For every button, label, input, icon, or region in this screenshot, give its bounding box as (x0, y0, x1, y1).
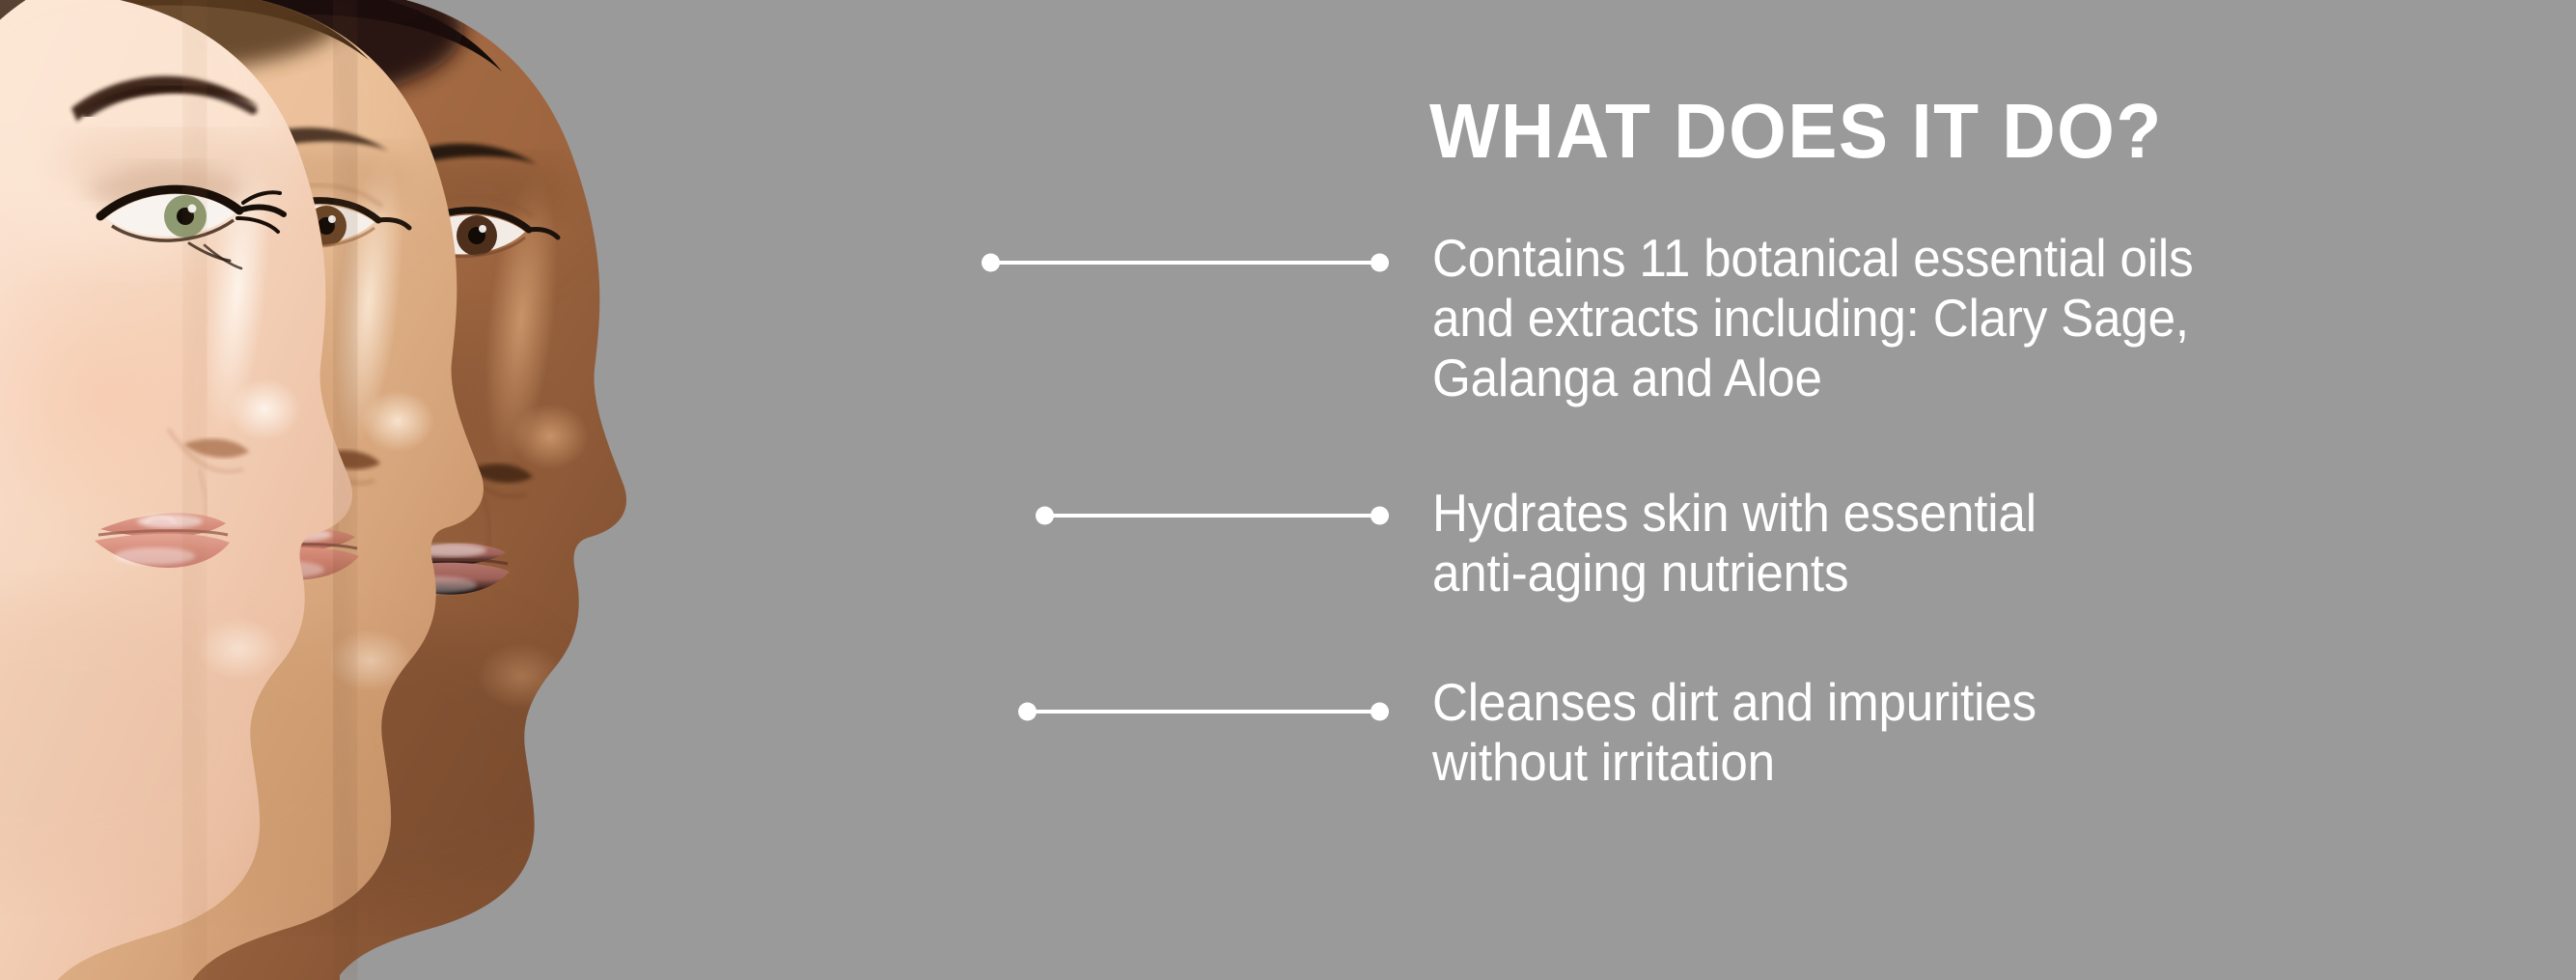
feature-text-botanicals: Contains 11 botanical essential oils and… (1432, 228, 2194, 407)
infographic-banner: WHAT DOES IT DO? Contains 11 botanical e… (0, 0, 2576, 980)
connector-stroke (1036, 514, 1389, 518)
page-title: WHAT DOES IT DO? (1429, 93, 2163, 170)
connector-line-1 (982, 252, 1389, 273)
connector-dot-right (1371, 703, 1389, 721)
feature-text-cleansing: Cleanses dirt and impurities without irr… (1432, 672, 2036, 792)
connector-line-3 (1018, 701, 1389, 722)
connector-stroke (1018, 710, 1389, 714)
connector-line-2 (1036, 505, 1389, 526)
connector-dot-right (1371, 507, 1389, 525)
three-faces-photo (0, 0, 927, 980)
connector-stroke (982, 261, 1389, 265)
connector-dot-right (1371, 254, 1389, 272)
feature-text-hydration: Hydrates skin with essential anti-aging … (1432, 483, 2036, 602)
